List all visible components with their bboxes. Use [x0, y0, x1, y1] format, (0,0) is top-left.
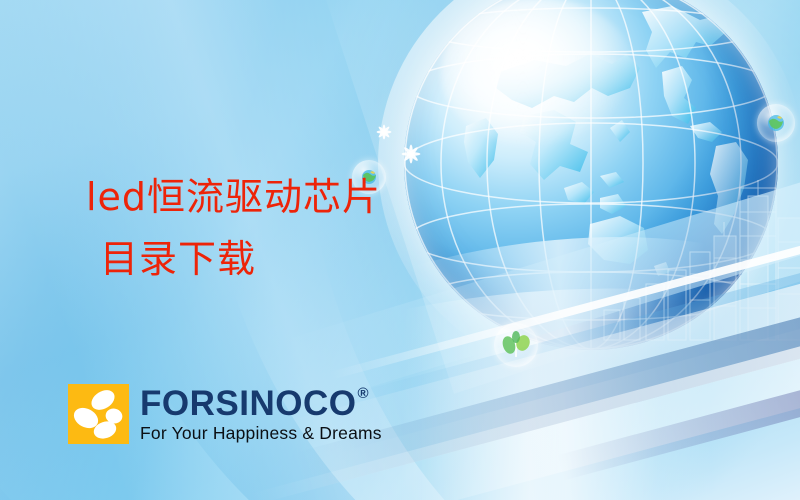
logo-company-name: FORSINOCO® [140, 386, 382, 422]
mini-globe-icon-2 [757, 104, 795, 142]
forsinoco-logo[interactable]: FORSINOCO® For Your Happiness & Dreams [68, 384, 382, 444]
logo-company-word: FORSINOCO [140, 386, 356, 422]
headline-line-2: 目录下载 [86, 228, 486, 290]
leaf-sprout-icon [494, 323, 538, 367]
banner-canvas: led恒流驱动芯片 目录下载 FORSINOCO® For Your Happi… [0, 0, 800, 500]
logo-tagline: For Your Happiness & Dreams [140, 423, 382, 443]
headline-line-1: led恒流驱动芯片 [86, 166, 486, 228]
headline-block: led恒流驱动芯片 目录下载 [86, 166, 486, 290]
bubble-leaf-1 [494, 323, 538, 367]
four-petal-icon [68, 384, 129, 444]
sparkle-asterisk-2 [396, 139, 426, 169]
logo-text-block: FORSINOCO® For Your Happiness & Dreams [140, 386, 382, 443]
sparkle-asterisk-1 [372, 120, 396, 144]
registered-trademark-icon: ® [357, 386, 369, 402]
bubble-globe-2 [757, 104, 795, 142]
forsinoco-four-petal-mark [68, 384, 129, 444]
